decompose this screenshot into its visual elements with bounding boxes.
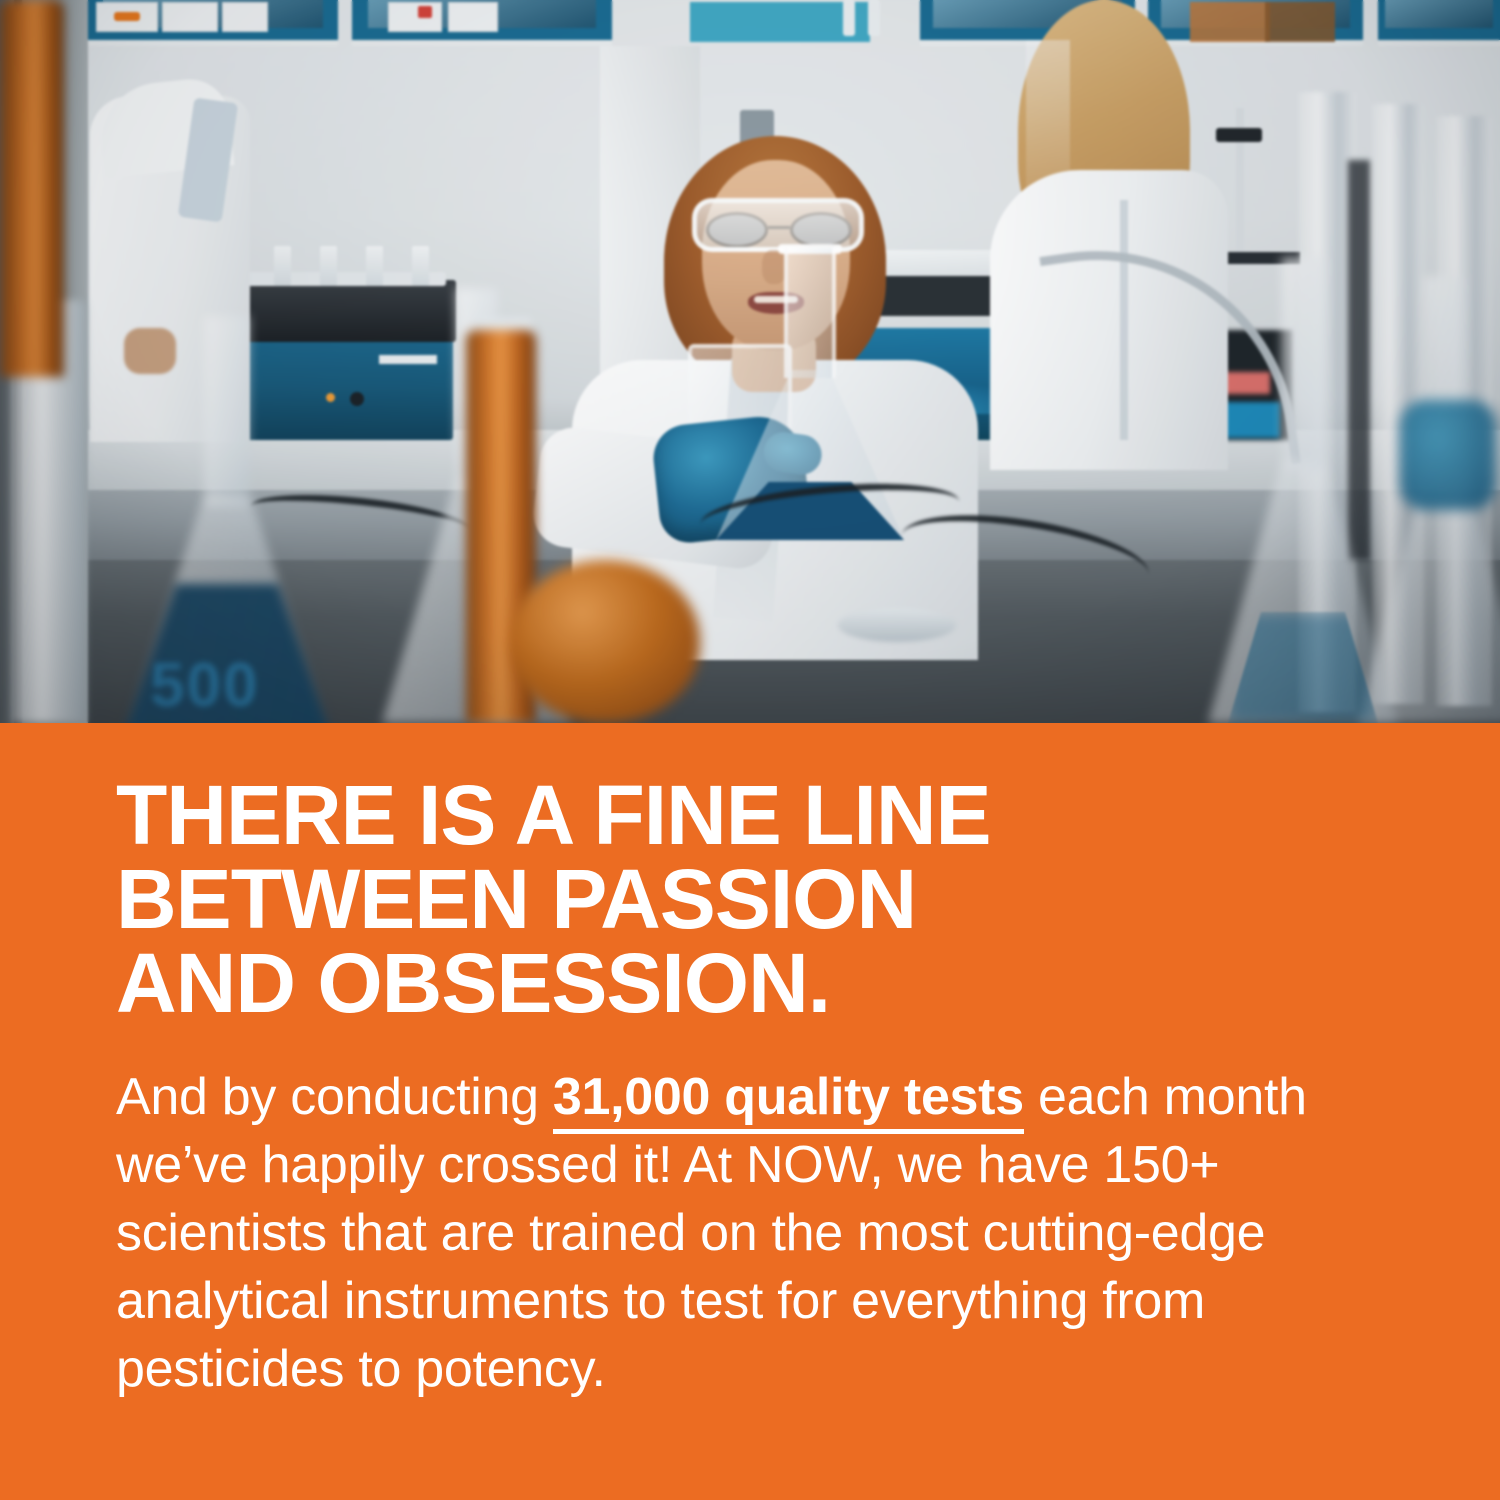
- headline-line-2: BETWEEN PASSION: [116, 857, 1456, 941]
- body-text-before-emphasis: And by conducting: [116, 1068, 553, 1126]
- page-title: THERE IS A FINE LINE BETWEEN PASSION AND…: [116, 773, 1456, 1025]
- body-paragraph: And by conducting 31,000 quality tests e…: [116, 1063, 1396, 1403]
- headline-line-1: THERE IS A FINE LINE: [116, 773, 1456, 857]
- emphasis-quality-tests: 31,000 quality tests: [553, 1068, 1024, 1134]
- photo-soft-focus: [0, 0, 1500, 723]
- laboratory-photo: 500: [0, 0, 1500, 723]
- promo-poster: 500 THERE IS A FINE L: [0, 0, 1500, 1500]
- orange-text-panel: THERE IS A FINE LINE BETWEEN PASSION AND…: [0, 723, 1500, 1500]
- headline-line-3: AND OBSESSION.: [116, 941, 1456, 1025]
